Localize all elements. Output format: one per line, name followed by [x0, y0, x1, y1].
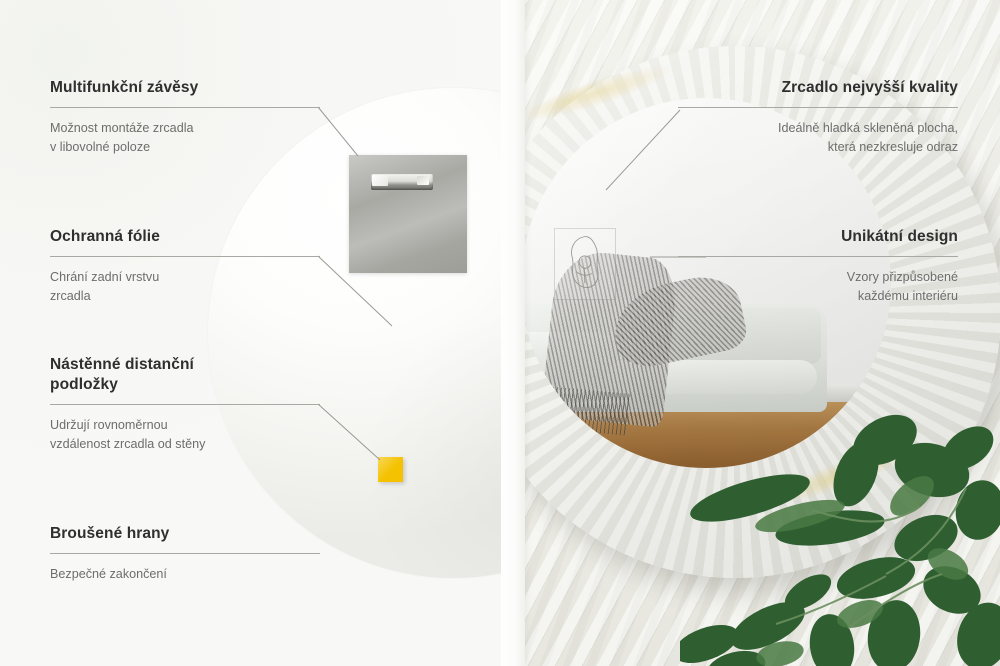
callout-title: Broušené hrany — [50, 524, 320, 544]
callout-nastenne-distancni-podlozky: Nástěnné distanční podložky Udržují rovn… — [50, 355, 320, 454]
callout-title: Multifunkční závěsy — [50, 78, 320, 98]
callout-rule — [678, 256, 958, 257]
callout-body: Ideálně hladká skleněná plocha, která ne… — [678, 119, 958, 157]
reflection-knitted-throw — [541, 248, 680, 428]
reflection-throw-fringe — [541, 386, 630, 435]
yellow-spacer-pad — [378, 457, 403, 482]
callout-multifunkcni-zavesy: Multifunkční závěsy Možnost montáže zrca… — [50, 78, 320, 157]
callout-ochranna-folie: Ochranná fólie Chrání zadní vrstvu zrcad… — [50, 227, 320, 306]
reflection-sofa-arm — [521, 332, 637, 372]
callout-brousene-hrany: Broušené hrany Bezpečné zakončení — [50, 524, 320, 584]
hanger-bracket-slot — [371, 174, 433, 190]
callout-rule — [50, 107, 320, 108]
callout-body: Vzory přizpůsobené každému interiéru — [678, 268, 958, 306]
callout-body: Bezpečné zakončení — [50, 565, 320, 584]
infographic-stage: Multifunkční závěsy Možnost montáže zrca… — [0, 0, 1000, 666]
reflection-sofa-back — [631, 308, 821, 364]
callout-body: Možnost montáže zrcadla v libovolné polo… — [50, 119, 320, 157]
callout-rule — [50, 256, 320, 257]
metallic-hanger-plate — [349, 155, 467, 273]
wall-left-edge — [501, 0, 525, 666]
callout-rule — [678, 107, 958, 108]
callout-title: Zrcadlo nejvyšší kvality — [678, 78, 958, 98]
callout-title: Unikátní design — [678, 227, 958, 247]
callout-body: Chrání zadní vrstvu zrcadla — [50, 268, 320, 306]
etched-line-art-motif — [554, 228, 616, 300]
callout-body: Udržují rovnoměrnou vzdálenost zrcadla o… — [50, 416, 320, 454]
callout-unikatni-design: Unikátní design Vzory přizpůsobené každé… — [678, 227, 958, 306]
callout-rule — [50, 553, 320, 554]
callout-title: Nástěnné distanční podložky — [50, 355, 320, 395]
callout-rule — [50, 404, 320, 405]
callout-title: Ochranná fólie — [50, 227, 320, 247]
callout-zrcadlo-nejvyssi-kvality: Zrcadlo nejvyšší kvality Ideálně hladká … — [678, 78, 958, 157]
foliage-plant — [680, 378, 1000, 666]
